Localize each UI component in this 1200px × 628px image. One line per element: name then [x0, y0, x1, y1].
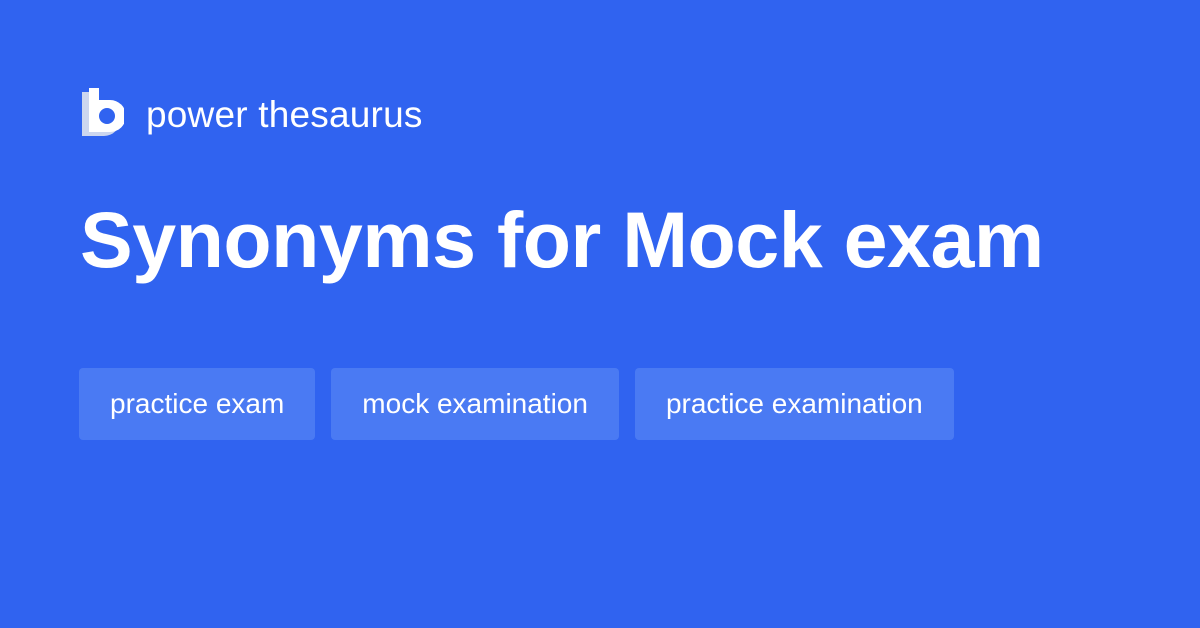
- brand-logo[interactable]: power thesaurus: [80, 86, 423, 142]
- share-card: power thesaurus Synonyms for Mock exam p…: [0, 0, 1200, 628]
- synonym-chip[interactable]: mock examination: [331, 368, 619, 440]
- power-thesaurus-b-logo-icon: [80, 88, 124, 140]
- brand-name: power thesaurus: [146, 96, 423, 133]
- synonym-chip[interactable]: practice examination: [635, 368, 954, 440]
- page-title: Synonyms for Mock exam: [80, 199, 1140, 281]
- synonym-chip[interactable]: practice exam: [79, 368, 315, 440]
- synonym-chip-list: practice exam mock examination practice …: [79, 368, 1129, 440]
